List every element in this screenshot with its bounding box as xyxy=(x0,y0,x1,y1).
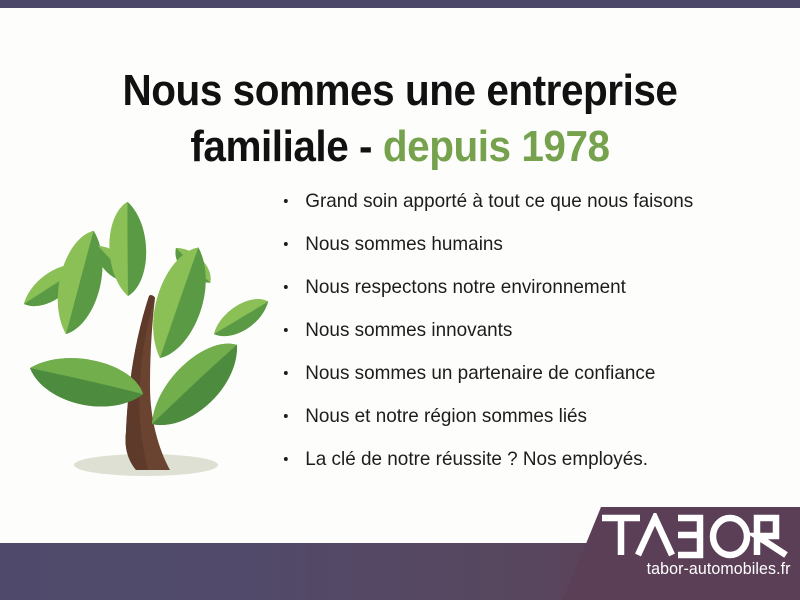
list-item-label: La clé de notre réussite ? Nos employés. xyxy=(305,448,648,470)
slide-root: Nous sommes une entreprise familiale - d… xyxy=(0,0,800,600)
tabor-wordmark xyxy=(600,513,790,559)
bullet-dot-icon xyxy=(284,242,288,246)
brand-logo-block[interactable]: tabor-automobiles.fr xyxy=(553,503,800,600)
list-item-label: Nous respectons notre environnement xyxy=(305,276,626,298)
list-item: Nous respectons notre environnement xyxy=(281,276,766,298)
list-item-label: Grand soin apporté à tout ce que nous fa… xyxy=(305,190,693,212)
bullet-dot-icon xyxy=(284,414,288,418)
list-item-label: Nous et notre région sommes liés xyxy=(305,405,587,427)
leaf-right-mid xyxy=(207,294,273,341)
bullet-dot-icon xyxy=(284,285,288,289)
headline-line-2-plain: familiale - xyxy=(190,122,372,171)
list-item: Nous sommes innovants xyxy=(281,319,766,341)
list-item: Nous sommes humains xyxy=(281,233,766,255)
brand-tagline: tabor-automobiles.fr xyxy=(568,559,800,579)
list-item: Grand soin apporté à tout ce que nous fa… xyxy=(281,190,766,212)
headline-accent-year: depuis 1978 xyxy=(383,122,610,171)
value-proposition-list: Grand soin apporté à tout ce que nous fa… xyxy=(281,190,781,491)
headline-line-1: Nous sommes une entreprise xyxy=(123,66,678,115)
list-item: Nous sommes un partenaire de confiance xyxy=(281,362,766,384)
page-title: Nous sommes une entreprise familiale - d… xyxy=(32,63,768,175)
top-accent-bar xyxy=(0,0,800,8)
headline-line-2: familiale - depuis 1978 xyxy=(32,119,768,175)
list-item-label: Nous sommes innovants xyxy=(305,319,512,341)
bullet-dot-icon xyxy=(284,199,288,203)
tree-illustration xyxy=(18,186,273,492)
list-item: Nous et notre région sommes liés xyxy=(281,405,766,427)
list-item: La clé de notre réussite ? Nos employés. xyxy=(281,448,766,470)
bullet-dot-icon xyxy=(284,457,288,461)
list-item-label: Nous sommes humains xyxy=(305,233,503,255)
bullet-dot-icon xyxy=(284,328,288,332)
bullet-dot-icon xyxy=(284,371,288,375)
list-item-label: Nous sommes un partenaire de confiance xyxy=(305,362,655,384)
